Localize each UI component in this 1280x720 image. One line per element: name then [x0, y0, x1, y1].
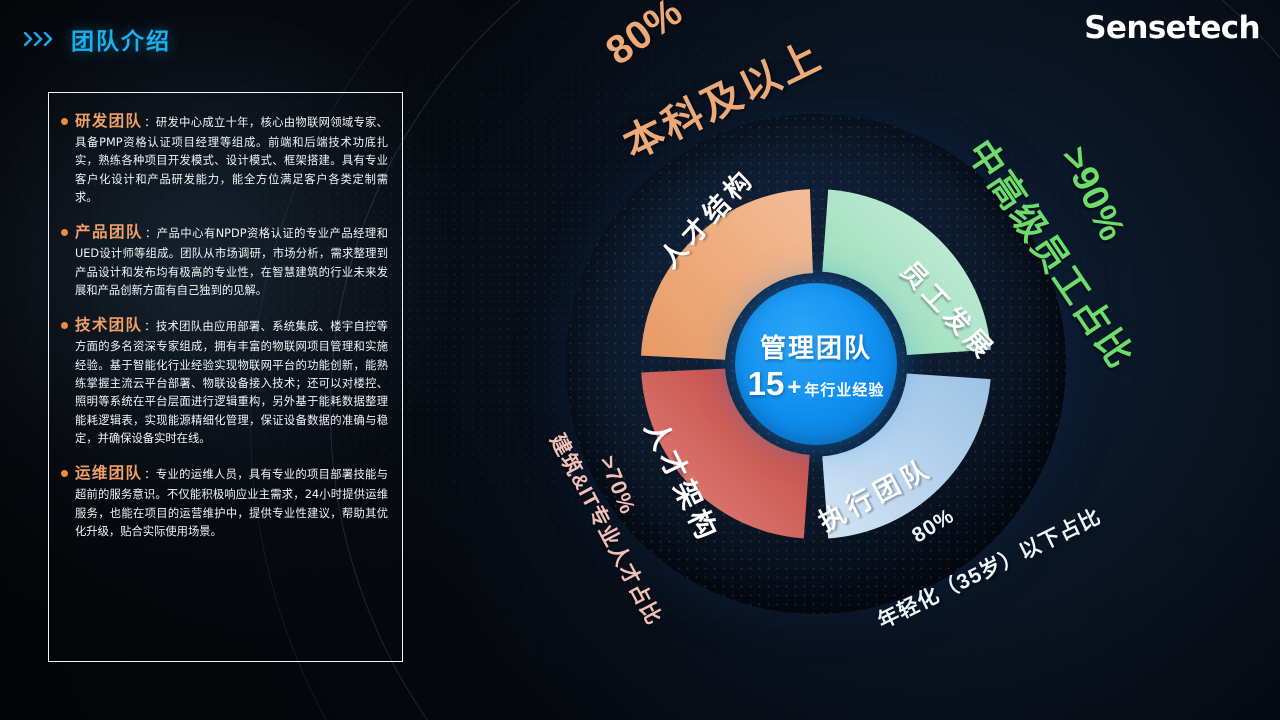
list-item-separator: ：	[144, 468, 156, 481]
list-item-separator: ：	[144, 320, 156, 333]
list-item-text: 研发团队：研发中心成立十年，核心由物联网领域专家、具备PMP资格认证项目经理等组…	[75, 109, 388, 207]
list-item-title: 研发团队	[75, 112, 142, 130]
bullet-icon	[61, 322, 68, 329]
list-item-title: 技术团队	[75, 316, 142, 334]
list-item-title: 产品团队	[75, 223, 143, 241]
page-title: 团队介绍	[71, 22, 171, 56]
donut-center-value: 15	[748, 367, 785, 400]
slide-canvas: 团队介绍 Sensetech 研发团队：研发中心成立十年，核心由物联网领域专家、…	[0, 0, 1280, 720]
bullet-icon	[61, 229, 68, 236]
list-item-text: 产品团队：产品中心有NPDP资格认证的专业产品经理和UED设计师等组成。团队从市…	[75, 220, 388, 300]
list-item-separator: ：	[145, 227, 157, 240]
donut-center-plus: +	[787, 376, 801, 400]
bullet-icon	[61, 118, 68, 125]
list-item-text: 技术团队：技术团队由应用部署、系统集成、楼宇自控等方面的多名资深专家组成，拥有丰…	[75, 313, 388, 448]
donut-center-title: 管理团队	[760, 328, 872, 365]
brand-logo: Sensetech	[1084, 10, 1260, 46]
list-item-separator: ：	[144, 116, 156, 129]
donut-center-unit: 年行业经验	[804, 379, 884, 400]
list-item-text: 运维团队：专业的运维人员，具有专业的项目部署技能与超前的服务意识。不仅能积极响应…	[75, 461, 388, 541]
list-item: 研发团队：研发中心成立十年，核心由物联网领域专家、具备PMP资格认证项目经理等组…	[61, 109, 388, 207]
team-description-panel: 研发团队：研发中心成立十年，核心由物联网领域专家、具备PMP资格认证项目经理等组…	[48, 92, 403, 662]
page-header: 团队介绍	[24, 22, 171, 56]
bullet-icon	[61, 470, 68, 477]
donut-center-subtitle: 15 + 年行业经验	[748, 367, 885, 400]
list-item: 运维团队：专业的运维人员，具有专业的项目部署技能与超前的服务意识。不仅能积极响应…	[61, 461, 388, 541]
list-item-body: 技术团队由应用部署、系统集成、楼宇自控等方面的多名资深专家组成，拥有丰富的物联网…	[75, 320, 388, 445]
list-item: 技术团队：技术团队由应用部署、系统集成、楼宇自控等方面的多名资深专家组成，拥有丰…	[61, 313, 388, 448]
chevrons-right-icon	[24, 32, 58, 46]
list-item: 产品团队：产品中心有NPDP资格认证的专业产品经理和UED设计师等组成。团队从市…	[61, 220, 388, 300]
donut-center-hub: 管理团队 15 + 年行业经验	[735, 283, 897, 445]
list-item-title: 运维团队	[75, 464, 142, 482]
